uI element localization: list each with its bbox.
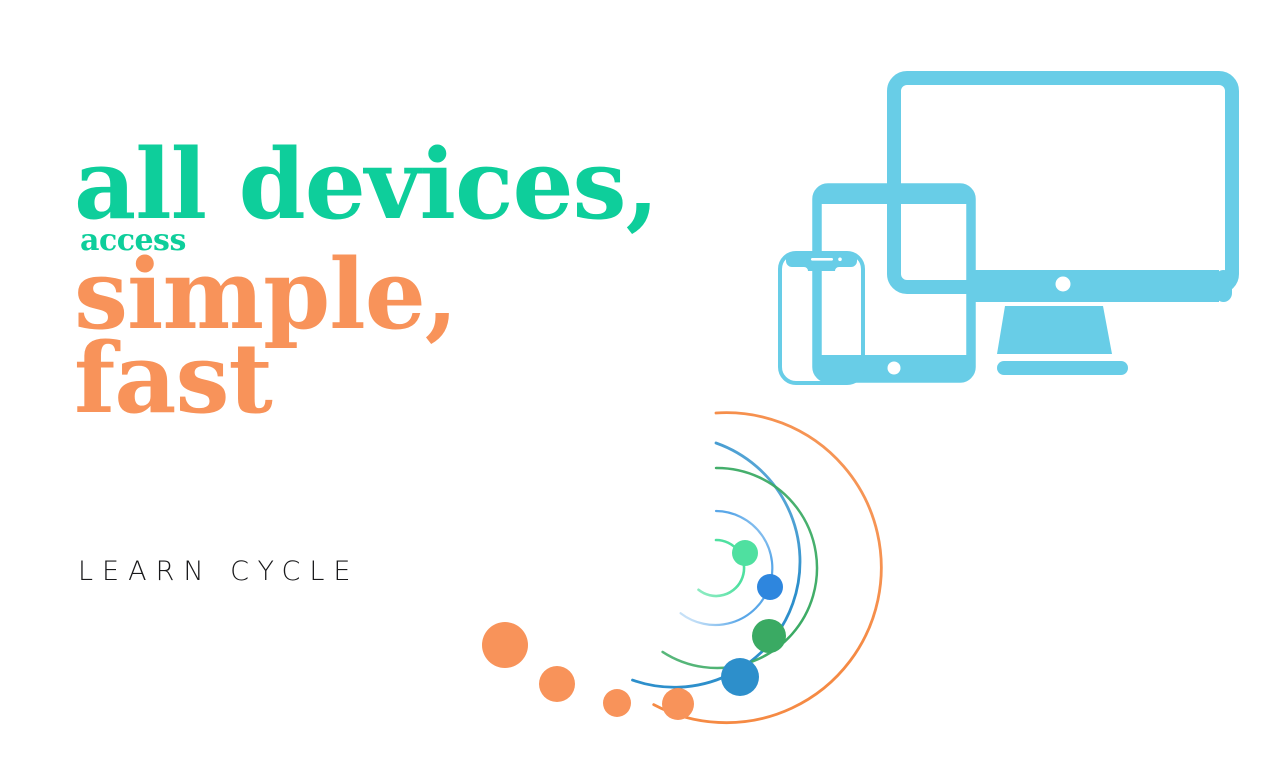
dot-blue (721, 658, 759, 696)
trail-dot-3 (603, 689, 631, 717)
phone-speaker-slot (811, 258, 833, 261)
sub-label-learn-cycle: LEARN CYCLE (78, 556, 359, 587)
dot-orange-on-ring (662, 688, 694, 720)
poster-canvas: all devices, access simple, fast LEARN C… (0, 0, 1270, 760)
monitor-camera-dot (1056, 277, 1071, 292)
headline-line-devices: all devices, access (74, 140, 754, 230)
desktop-monitor-icon (894, 78, 1232, 375)
phone-camera-dot (838, 258, 842, 262)
ring-green (663, 468, 817, 668)
ring-light-blue (681, 511, 773, 625)
devices-illustration (760, 55, 1260, 400)
orbit-diagram (455, 400, 895, 745)
dot-mint (732, 540, 758, 566)
monitor-base (997, 361, 1128, 375)
headline-overlay-access: access (80, 226, 186, 256)
headline-block: all devices, access simple, fast (74, 140, 754, 425)
phone-notch (786, 255, 857, 271)
trail-dot-2 (539, 666, 575, 702)
ring-outer-orange (654, 413, 882, 723)
dot-green (752, 619, 786, 653)
trail-dot-1 (482, 622, 528, 668)
monitor-stand (997, 306, 1112, 354)
dot-small-blue (757, 574, 783, 600)
tablet-home-dot (888, 362, 901, 375)
